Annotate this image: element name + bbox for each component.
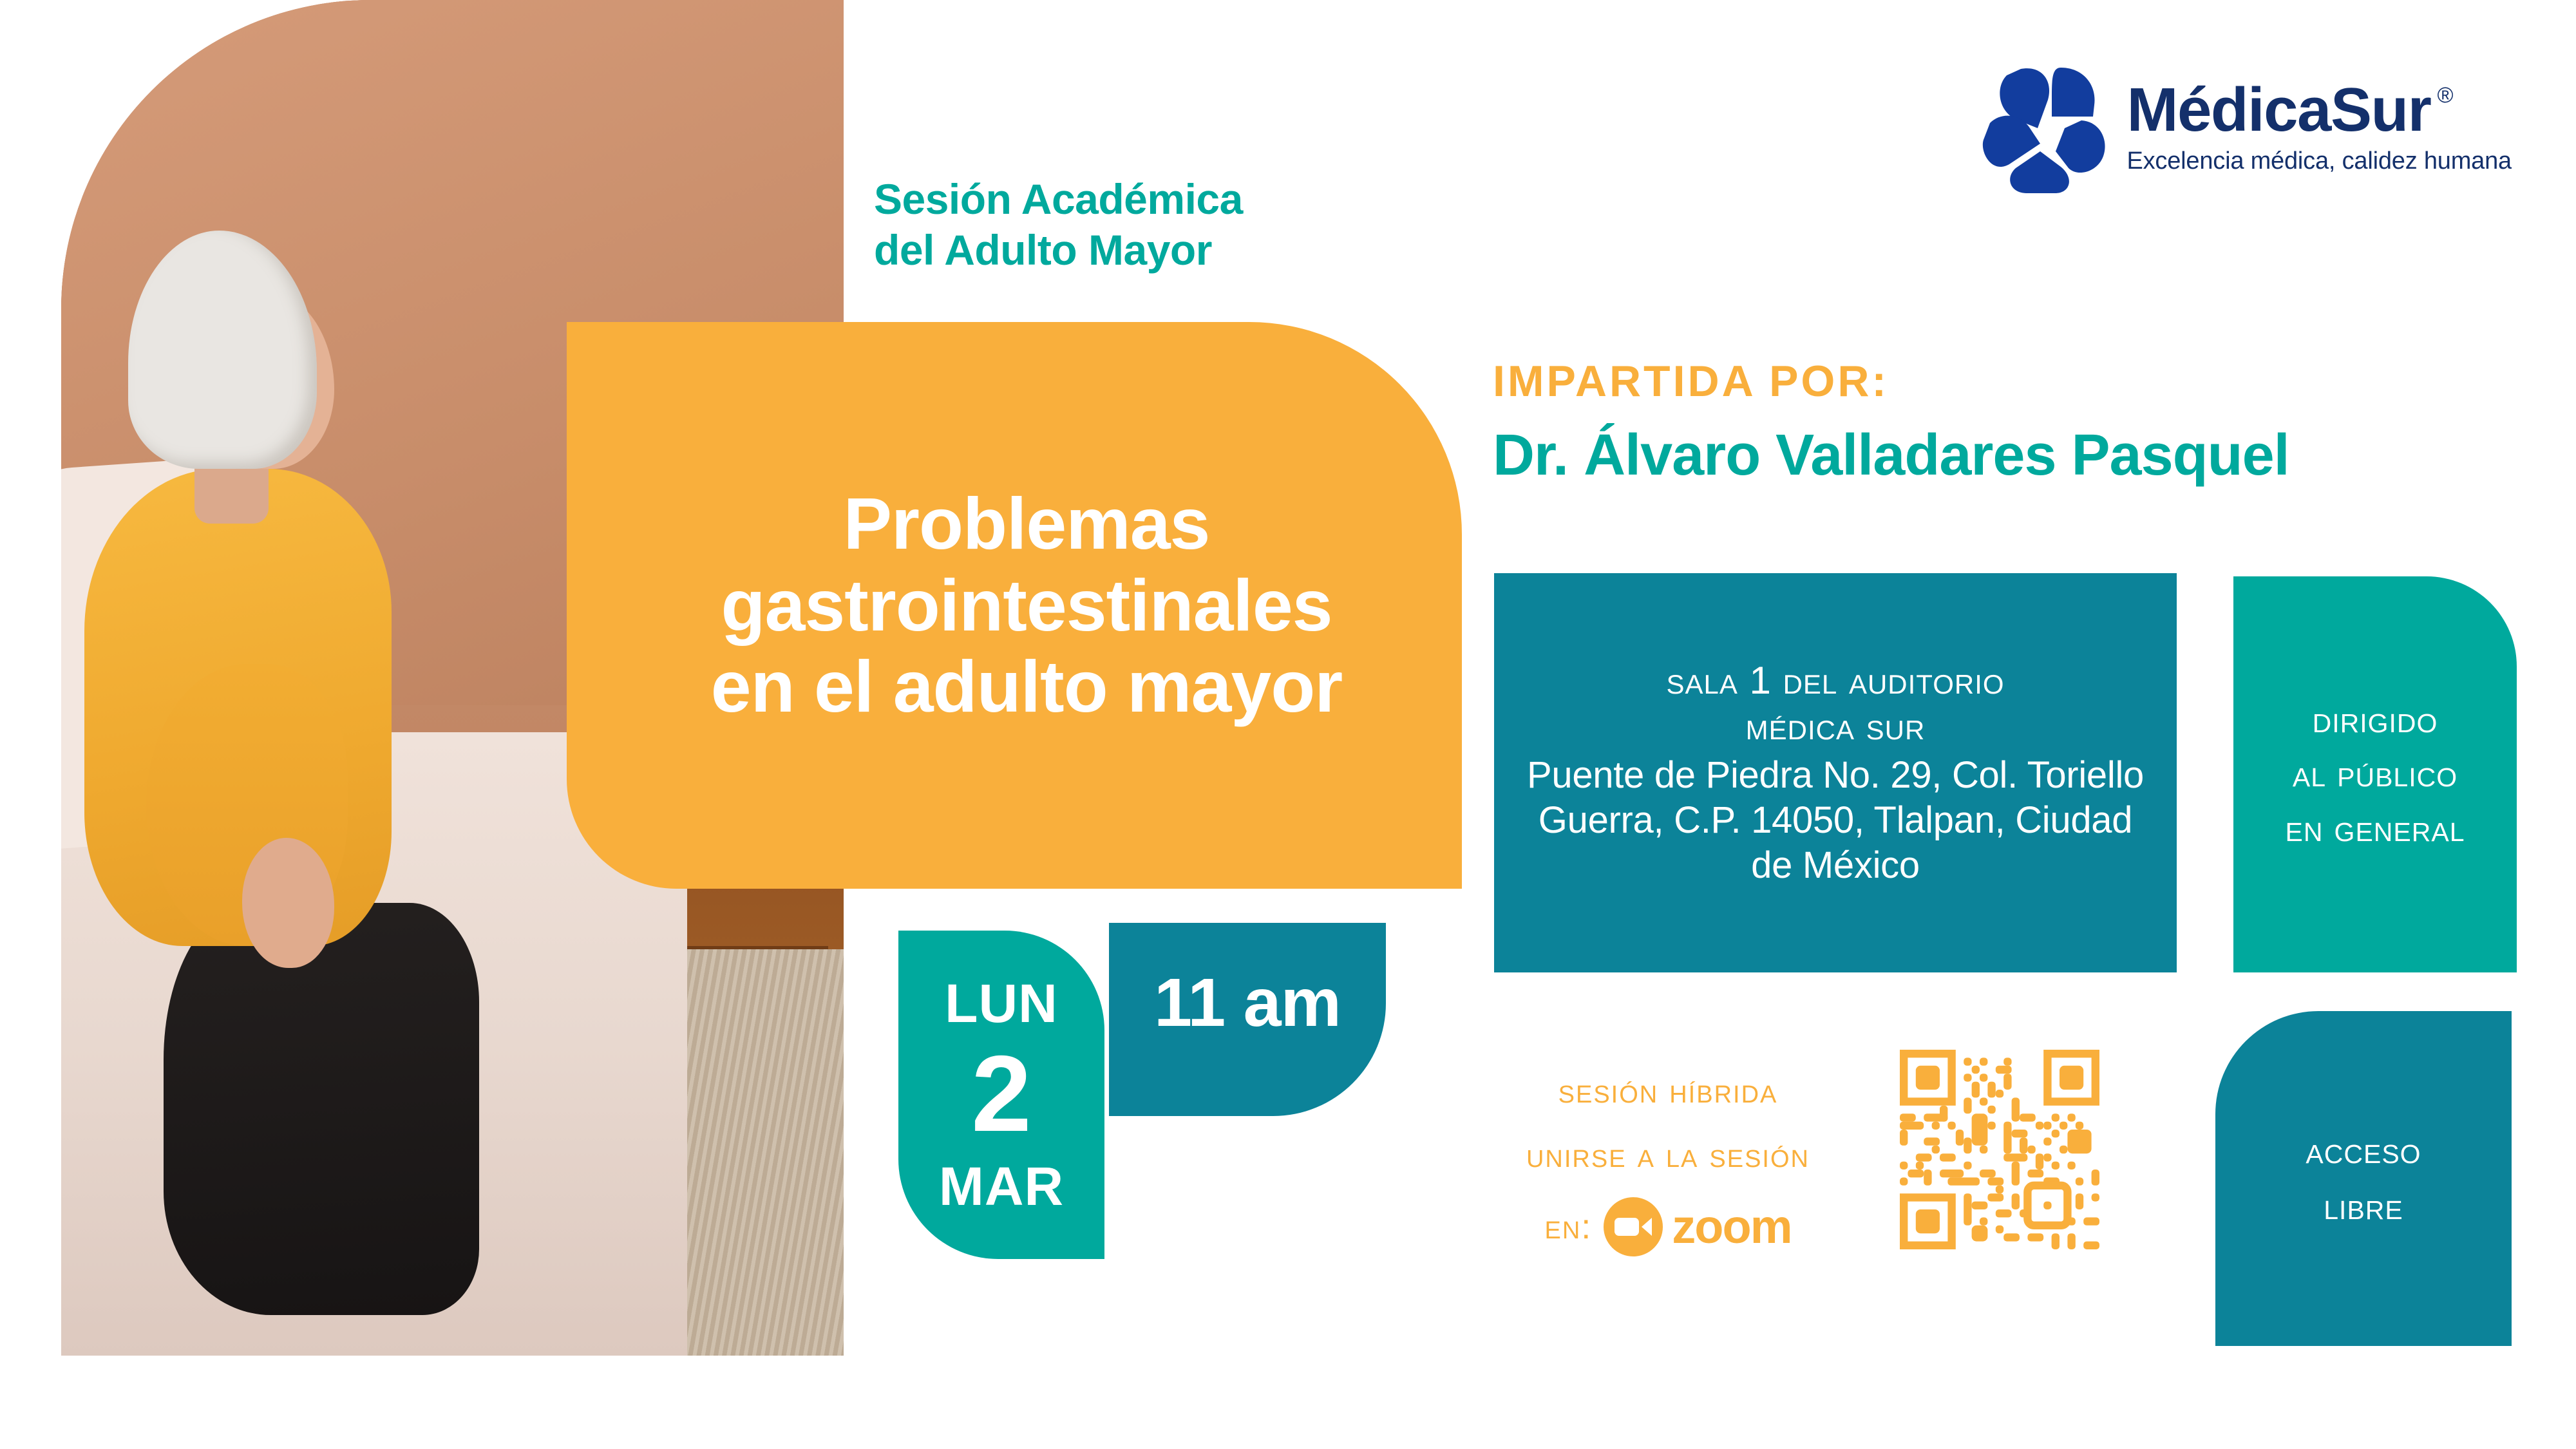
audience-line-1: Dirigido xyxy=(2285,693,2465,747)
audience-text: Dirigido al público en general xyxy=(2285,693,2465,855)
zoom-wordmark: zoom xyxy=(1672,1203,1791,1251)
woman-legs xyxy=(164,903,479,1315)
session-title: Problemas gastrointestinales en el adult… xyxy=(658,483,1370,728)
kicker-line-1: Sesión Académica xyxy=(874,174,1454,225)
title-panel: Problemas gastrointestinales en el adult… xyxy=(567,322,1462,889)
access-line-1: Acceso xyxy=(2306,1122,2421,1179)
access-line-2: libre xyxy=(2306,1179,2421,1235)
zoom-camera-icon xyxy=(1604,1197,1663,1256)
speaker-name: Dr. Álvaro Valladares Pasquel xyxy=(1493,424,2562,488)
date-month: MAR xyxy=(939,1159,1064,1213)
audience-line-2: al público xyxy=(2285,747,2465,801)
venue-address: Puente de Piedra No. 29, Col. Toriello G… xyxy=(1522,753,2148,887)
title-line-2: gastrointestinales xyxy=(711,565,1342,647)
time-value: 11 am xyxy=(1154,964,1341,1042)
speaker-block: IMPARTIDA POR: Dr. Álvaro Valladares Pas… xyxy=(1493,357,2562,488)
hybrid-session-block: Sesión híbrida unirse a la sesión en: zo… xyxy=(1462,1059,1874,1256)
registered-mark: ® xyxy=(2437,84,2452,106)
date-badge: LUN 2 MAR xyxy=(898,931,1104,1259)
photo-woman xyxy=(84,231,522,1315)
kicker-line-2: del Adulto Mayor xyxy=(874,225,1454,276)
title-line-3: en el adulto mayor xyxy=(711,646,1342,728)
medicasur-flower-icon xyxy=(1981,61,2110,193)
audience-line-3: en general xyxy=(2285,802,2465,856)
logo-wordmark: MédicaSur ® xyxy=(2126,79,2512,141)
logo-text-block: MédicaSur ® Excelencia médica, calidez h… xyxy=(2126,79,2512,175)
logo-tagline: Excelencia médica, calidez humana xyxy=(2126,147,2512,175)
venue-building: Médica Sur xyxy=(1746,704,1926,750)
poster-root: Sesión Académica del Adulto Mayor Médica… xyxy=(0,0,2576,1449)
hybrid-line-2: unirse a la sesión xyxy=(1462,1124,1874,1188)
title-line-1: Problemas xyxy=(711,483,1342,565)
speaker-label: IMPARTIDA POR: xyxy=(1493,357,2562,406)
zoom-camera-glyph xyxy=(1613,1214,1653,1240)
time-badge: 11 am xyxy=(1109,923,1386,1116)
access-text: Acceso libre xyxy=(2306,1122,2421,1235)
zoom-join-row[interactable]: en: zoom xyxy=(1462,1197,1874,1256)
woman-hair xyxy=(128,231,317,469)
access-badge: Acceso libre xyxy=(2215,1011,2512,1346)
date-day-number: 2 xyxy=(971,1039,1031,1148)
medicasur-logo: MédicaSur ® Excelencia médica, calidez h… xyxy=(1981,61,2512,193)
hybrid-en-label: en: xyxy=(1545,1207,1593,1247)
qr-code[interactable] xyxy=(1900,1050,2099,1249)
audience-badge: Dirigido al público en general xyxy=(2233,576,2517,972)
session-kicker: Sesión Académica del Adulto Mayor xyxy=(874,174,1454,276)
venue-panel: Sala 1 del Auditorio Médica Sur Puente d… xyxy=(1494,573,2177,972)
logo-name-text: MédicaSur xyxy=(2126,79,2430,141)
date-day-of-week: LUN xyxy=(945,976,1058,1030)
hybrid-line-1: Sesión híbrida xyxy=(1462,1059,1874,1124)
venue-room: Sala 1 del Auditorio xyxy=(1666,658,2004,704)
zoom-logo[interactable]: zoom xyxy=(1604,1197,1791,1256)
